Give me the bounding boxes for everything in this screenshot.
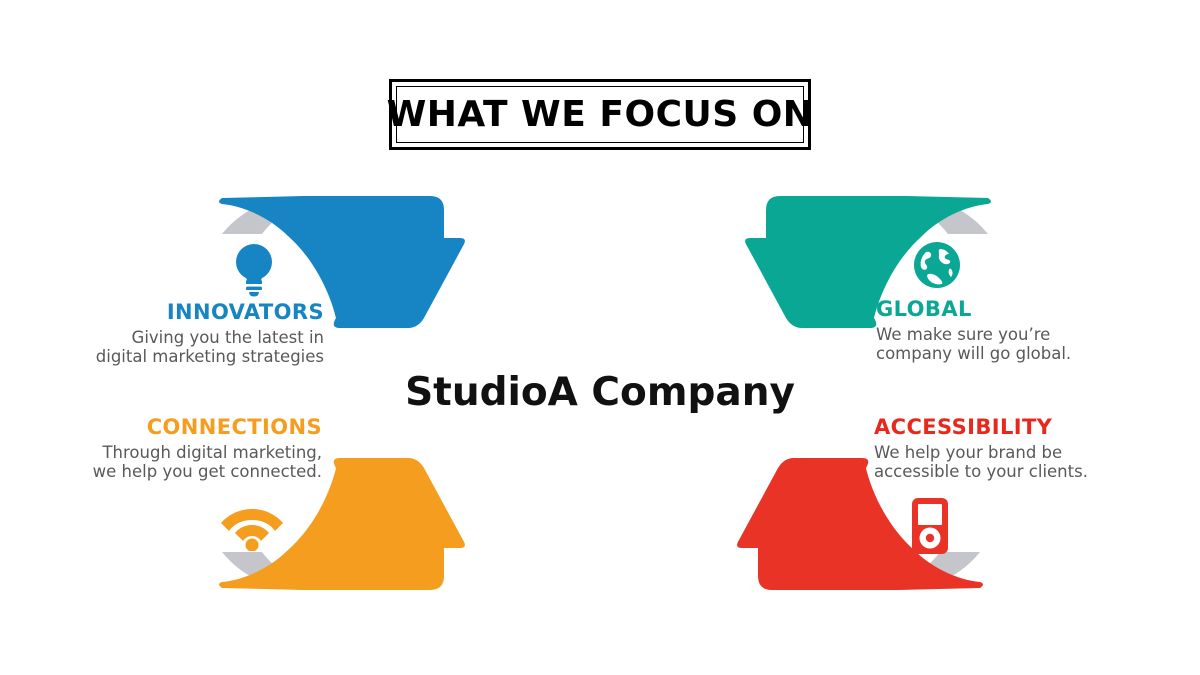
quadrant-connections-body: Through digital marketing, we help you g… xyxy=(20,443,322,482)
quadrant-accessibility-text: ACCESSIBILITY We help your brand be acce… xyxy=(874,415,1184,482)
wifi-icon xyxy=(220,503,284,551)
quadrant-accessibility-body: We help your brand be accessible to your… xyxy=(874,443,1184,482)
globe-icon xyxy=(913,241,961,289)
center-brand-title: StudioA Company xyxy=(0,370,1200,415)
quadrant-accessibility-heading: ACCESSIBILITY xyxy=(874,415,1184,440)
page-title: WHAT WE FOCUS ON xyxy=(387,94,814,135)
mp3-player-icon xyxy=(911,497,949,555)
quadrant-global-body: We make sure you’re company will go glob… xyxy=(876,325,1176,364)
quadrant-global-text: GLOBAL We make sure you’re company will … xyxy=(876,297,1176,364)
title-box: WHAT WE FOCUS ON xyxy=(389,79,811,150)
quadrant-innovators-heading: INNOVATORS xyxy=(28,300,324,325)
quadrant-innovators-text: INNOVATORS Giving you the latest in digi… xyxy=(28,300,324,367)
quadrant-global-heading: GLOBAL xyxy=(876,297,1176,322)
slide-canvas: WHAT WE FOCUS ON xyxy=(0,0,1200,675)
quadrant-connections-text: CONNECTIONS Through digital marketing, w… xyxy=(20,415,322,482)
quadrant-innovators-body: Giving you the latest in digital marketi… xyxy=(28,328,324,367)
lightbulb-icon xyxy=(231,241,277,297)
quadrant-connections-heading: CONNECTIONS xyxy=(20,415,322,440)
